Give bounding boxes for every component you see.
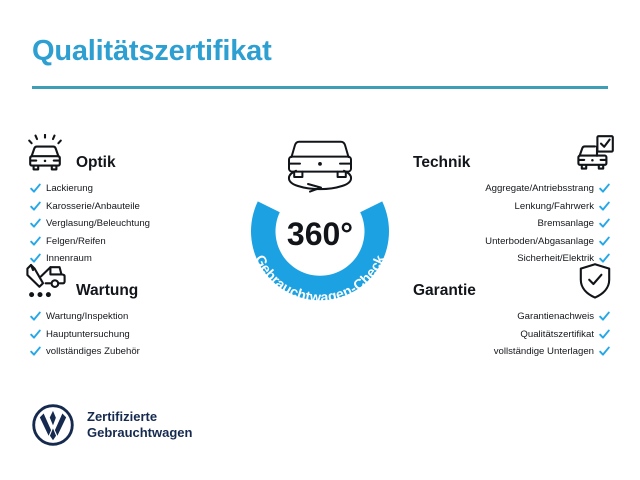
list-item-label: vollständiges Zubehör	[46, 344, 140, 359]
list-item: Verglasung/Beleuchtung	[30, 216, 227, 231]
badge-center-text: 360°	[287, 216, 353, 252]
list-item: Qualitätszertifikat	[413, 327, 610, 342]
list-item: Lackierung	[30, 181, 227, 196]
section-header: Wartung	[22, 258, 227, 302]
car-checkbox-icon	[572, 132, 618, 174]
section-optik: Optik Lackierung Karosserie/Anbauteile	[22, 130, 227, 269]
list-item: Aggregate/Antriebsstrang	[413, 181, 610, 196]
car-service-pen-icon	[22, 260, 68, 302]
car-shine-icon	[22, 132, 68, 174]
section-title: Garantie	[413, 282, 484, 303]
check-icon	[599, 329, 610, 340]
certificate-page: Qualitätszertifikat Optik	[0, 0, 640, 480]
badge-360-gebrauchtwagen-check: 360° Gebrauchtwagen-Check	[228, 120, 412, 320]
section-title-wrap: Garantie	[413, 281, 572, 302]
list-item: Unterboden/Abgasanlage	[413, 234, 610, 249]
check-icon	[30, 201, 41, 212]
list-item: Hauptuntersuchung	[30, 327, 227, 342]
list-item-label: vollständige Unterlagen	[494, 344, 594, 359]
section-title: Wartung	[68, 282, 138, 303]
title-divider	[32, 86, 608, 89]
checklist-technik: Aggregate/Antriebsstrang Lenkung/Fahrwer…	[413, 181, 618, 266]
section-title-wrap: Wartung	[68, 281, 227, 302]
list-item: Felgen/Reifen	[30, 234, 227, 249]
section-title-wrap: Optik	[68, 153, 227, 174]
list-item-label: Qualitätszertifikat	[520, 327, 594, 342]
list-item: Lenkung/Fahrwerk	[413, 199, 610, 214]
list-item-label: Felgen/Reifen	[46, 234, 106, 249]
section-garantie: Garantie Garantienachweis Qualitätszerti…	[413, 258, 618, 362]
list-item: vollständige Unterlagen	[413, 344, 610, 359]
list-item: Bremsanlage	[413, 216, 610, 231]
check-icon	[30, 346, 41, 357]
section-title: Optik	[68, 154, 116, 175]
checklist-wartung: Wartung/Inspektion Hauptuntersuchung vol…	[22, 309, 227, 359]
section-header: Garantie	[413, 258, 618, 302]
vw-certified-text: Zertifizierte Gebrauchtwagen	[87, 409, 192, 441]
list-item-label: Lackierung	[46, 181, 93, 196]
shield-check-icon	[572, 260, 618, 302]
car-rotate-360-icon	[289, 142, 351, 192]
list-item-label: Unterboden/Abgasanlage	[485, 234, 594, 249]
list-item: Wartung/Inspektion	[30, 309, 227, 324]
vw-certified-lockup: Zertifizierte Gebrauchtwagen	[32, 404, 192, 446]
list-item-label: Verglasung/Beleuchtung	[46, 216, 150, 231]
list-item-label: Bremsanlage	[537, 216, 594, 231]
list-item-label: Hauptuntersuchung	[46, 327, 130, 342]
section-header: Technik	[413, 130, 618, 174]
check-icon	[599, 218, 610, 229]
check-icon	[30, 329, 41, 340]
list-item-label: Wartung/Inspektion	[46, 309, 128, 324]
list-item: Karosserie/Anbauteile	[30, 199, 227, 214]
check-icon	[30, 183, 41, 194]
list-item-label: Aggregate/Antriebsstrang	[485, 181, 594, 196]
check-icon	[599, 236, 610, 247]
page-title: Qualitätszertifikat	[32, 35, 272, 68]
check-icon	[599, 311, 610, 322]
section-title-wrap: Technik	[413, 153, 572, 174]
list-item-label: Garantienachweis	[517, 309, 594, 324]
vw-logo	[32, 404, 74, 446]
check-icon	[30, 218, 41, 229]
section-wartung: Wartung Wartung/Inspektion Hauptuntersuc…	[22, 258, 227, 362]
list-item: Garantienachweis	[413, 309, 610, 324]
list-item-label: Lenkung/Fahrwerk	[515, 199, 594, 214]
list-item: vollständiges Zubehör	[30, 344, 227, 359]
list-item-label: Karosserie/Anbauteile	[46, 199, 140, 214]
checklist-optik: Lackierung Karosserie/Anbauteile Verglas…	[22, 181, 227, 266]
check-icon	[30, 236, 41, 247]
check-icon	[599, 346, 610, 357]
checklist-garantie: Garantienachweis Qualitätszertifikat vol…	[413, 309, 618, 359]
section-header: Optik	[22, 130, 227, 174]
check-icon	[30, 311, 41, 322]
check-icon	[599, 201, 610, 212]
section-technik: Technik Aggregate/Antriebsstrang Lenkung…	[413, 130, 618, 269]
section-title: Technik	[413, 154, 478, 175]
check-icon	[599, 183, 610, 194]
